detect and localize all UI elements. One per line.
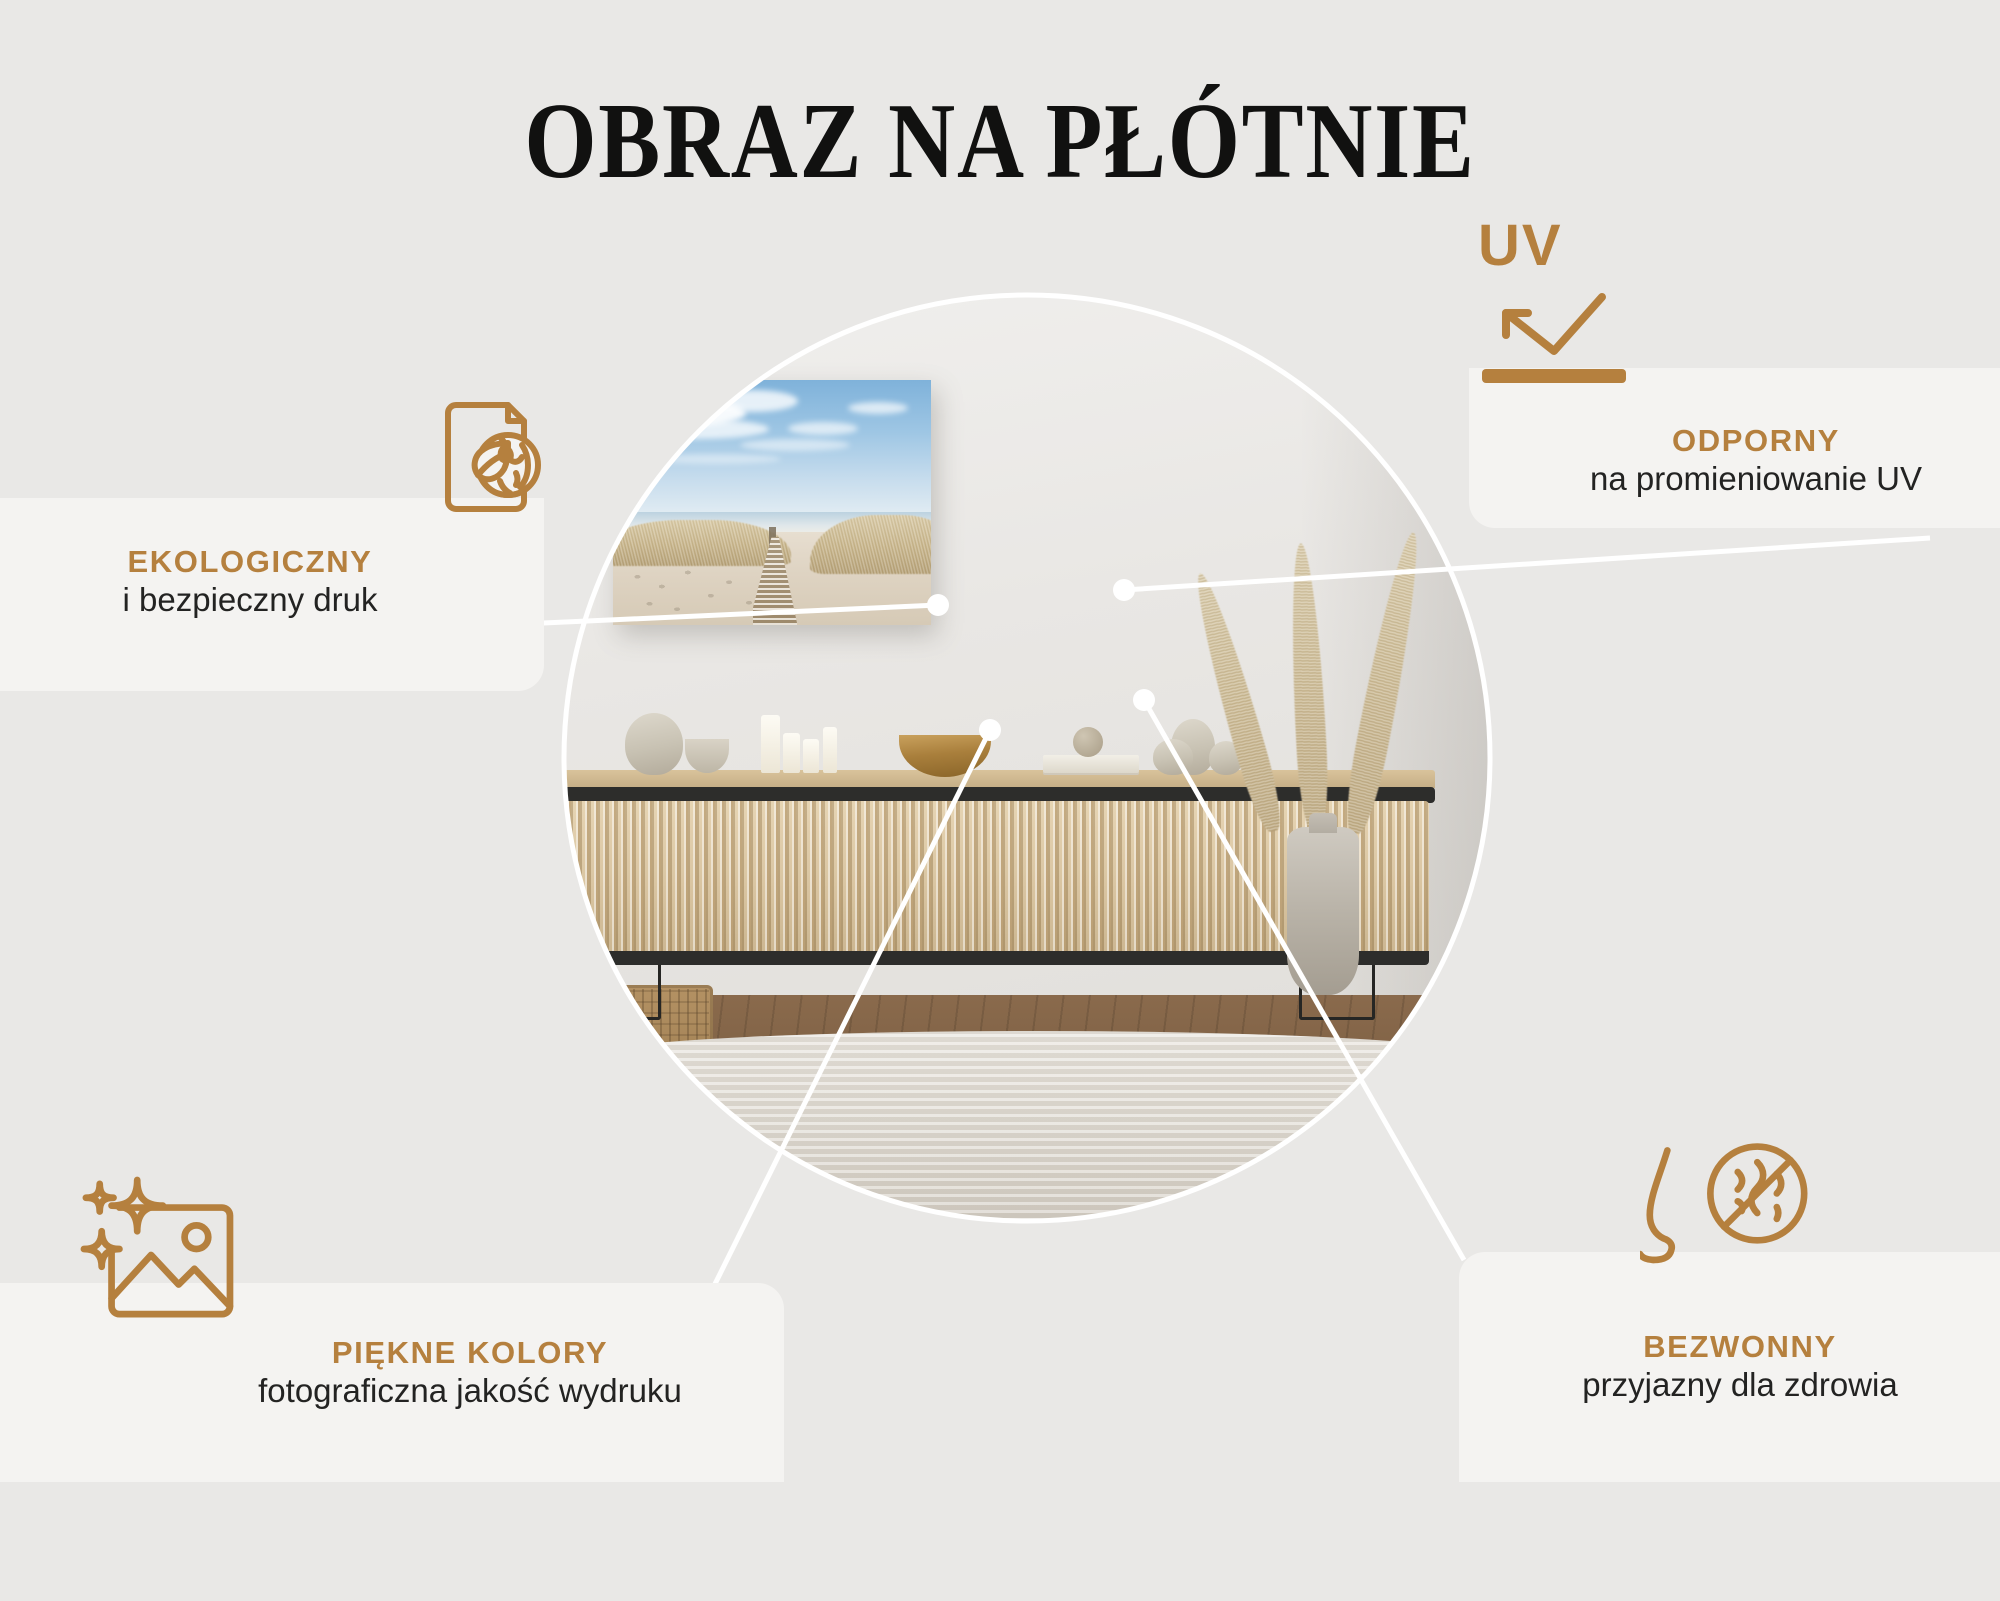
feature-title-ekologiczny: EKOLOGICZNY [0, 545, 500, 579]
feature-text-piekne-kolory: PIĘKNE KOLORY fotograficzna jakość wydru… [160, 1336, 780, 1411]
feature-subtitle-piekne-kolory: fotograficzna jakość wydruku [160, 1370, 780, 1411]
decor-books [1043, 755, 1139, 773]
page-title: OBRAZ NA PŁÓTNIE [140, 88, 1860, 196]
room-scene [565, 295, 1490, 1220]
canvas-artwork [613, 380, 931, 625]
decor-sphere [1073, 727, 1103, 757]
rug [585, 1031, 1485, 1220]
decor-candle-short [803, 739, 819, 773]
decor-candle-slim [823, 727, 837, 773]
feature-text-odporny: ODPORNY na promieniowanie UV [1512, 424, 2000, 499]
feature-title-piekne-kolory: PIĘKNE KOLORY [160, 1336, 780, 1370]
decor-candle-tall [761, 715, 780, 773]
feature-subtitle-bezwonny: przyjazny dla zdrowia [1480, 1364, 2000, 1405]
picture-sparkle-icon [68, 1176, 238, 1326]
feature-title-bezwonny: BEZWONNY [1480, 1330, 2000, 1364]
infographic-stage: OBRAZ NA PŁÓTNIE [0, 0, 2000, 1601]
eco-document-globe-leaf-icon [424, 393, 552, 521]
feature-subtitle-ekologiczny: i bezpieczny druk [0, 579, 500, 620]
decor-vase-right-b [1153, 739, 1193, 775]
feature-title-odporny: ODPORNY [1512, 424, 2000, 458]
nose-no-odor-icon [1640, 1138, 1812, 1288]
uv-badge-label: UV [1478, 212, 1563, 279]
uv-ray-reflection-icon [1474, 285, 1634, 395]
decor-vase-large [625, 713, 683, 775]
feature-text-bezwonny: BEZWONNY przyjazny dla zdrowia [1480, 1330, 2000, 1405]
feature-subtitle-odporny: na promieniowanie UV [1512, 458, 2000, 499]
decor-candle-mid [783, 733, 800, 773]
pampas-vase [1287, 827, 1359, 995]
feature-text-ekologiczny: EKOLOGICZNY i bezpieczny druk [0, 545, 500, 620]
